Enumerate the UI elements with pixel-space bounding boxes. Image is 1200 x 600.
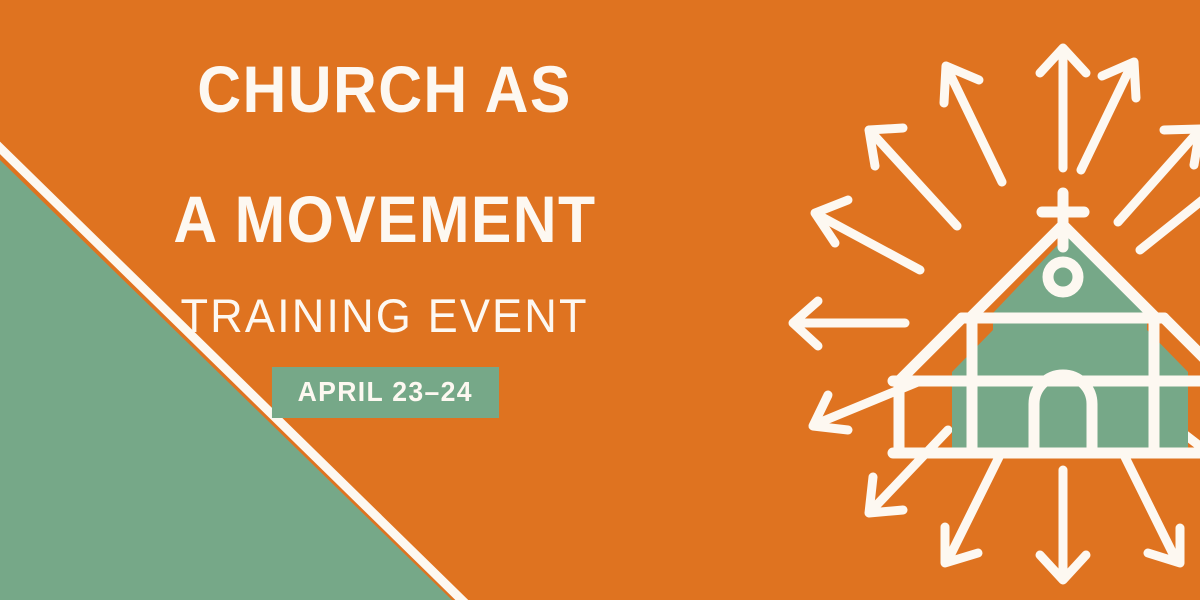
arrow-up-left-shallow [815, 200, 920, 270]
arrow-left [793, 301, 905, 346]
arrow-down-left-mid [869, 430, 948, 513]
arrow-down-right-steep [1124, 455, 1180, 563]
arrow-up-left-mid [869, 128, 957, 226]
arrow-down [1040, 470, 1086, 580]
arrow-up-left-steep [944, 66, 1002, 182]
arrow-up-right-steep [1081, 62, 1136, 170]
arrow-down-left-steep [945, 455, 1000, 563]
arrow-up [1040, 48, 1086, 168]
church-with-arrows-illustration [760, 0, 1200, 600]
event-banner: CHURCH AS A MOVEMENT TRAINING EVENT APRI… [0, 0, 1200, 600]
arrow-up-right-shallow [1140, 198, 1200, 250]
